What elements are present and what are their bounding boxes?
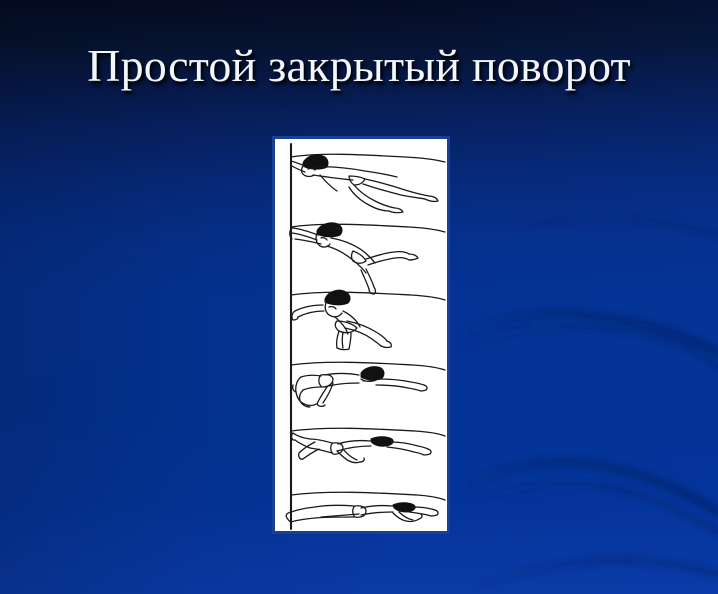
turn-sequence-illustration bbox=[272, 136, 450, 534]
figure-approach-to-wall bbox=[291, 144, 445, 213]
figure-feet-planted-push-ready bbox=[291, 349, 445, 417]
figure-streamline-glide bbox=[286, 483, 445, 529]
presentation-slide: Простой закрытый поворот bbox=[0, 0, 718, 594]
figure-push-off bbox=[291, 417, 445, 483]
figure-touch-and-tuck bbox=[290, 211, 445, 294]
page-title: Простой закрытый поворот bbox=[0, 38, 718, 94]
figure-rotation-turn bbox=[291, 279, 445, 350]
swimming-turn-diagram bbox=[275, 139, 447, 531]
